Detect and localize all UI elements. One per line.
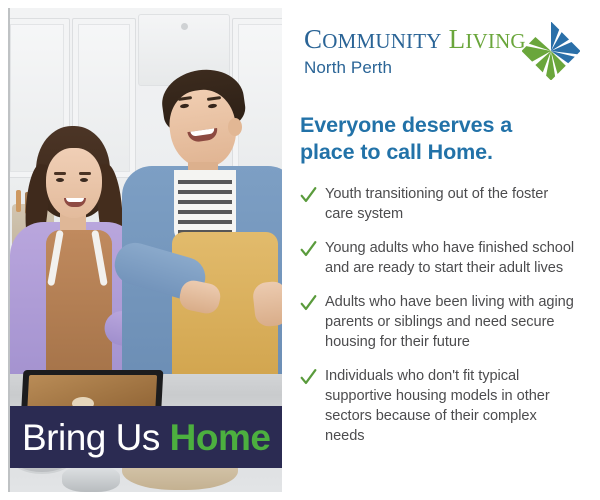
list-item: Individuals who don't fit typical suppor… bbox=[300, 367, 576, 447]
headline-line-1: Everyone deserves a bbox=[300, 112, 576, 139]
list-item: Youth transitioning out of the foster ca… bbox=[300, 185, 576, 225]
check-icon bbox=[300, 186, 317, 204]
logo-wordmark: COMMUNITY LIVING North Perth bbox=[304, 26, 526, 78]
photo-column: Bring Us Home bbox=[8, 8, 282, 492]
banner-text-green: Home bbox=[170, 417, 271, 458]
eligibility-list: Youth transitioning out of the foster ca… bbox=[300, 185, 576, 447]
eye-right bbox=[80, 178, 88, 182]
poster-root: Bring Us Home COMMUNITY LIVING North Per… bbox=[0, 0, 600, 500]
list-item-label: Young adults who have finished school an… bbox=[325, 239, 576, 279]
content-panel: COMMUNITY LIVING North Perth bbox=[286, 0, 600, 500]
bring-us-home-banner: Bring Us Home bbox=[10, 406, 282, 468]
person-young-man bbox=[128, 70, 282, 406]
logo-c: C bbox=[304, 24, 322, 54]
logo-living-rest: IVING bbox=[465, 29, 525, 53]
eyebrow-left bbox=[54, 172, 66, 175]
kitchen-photo: Bring Us Home bbox=[10, 8, 282, 492]
check-icon bbox=[300, 240, 317, 258]
community-living-logo[interactable]: COMMUNITY LIVING North Perth bbox=[300, 26, 576, 88]
cookie-cutter bbox=[62, 466, 120, 492]
logo-l: L bbox=[449, 24, 466, 54]
tee-stripes bbox=[178, 180, 232, 238]
logo-line-primary: COMMUNITY LIVING bbox=[304, 26, 526, 53]
ear bbox=[228, 118, 242, 136]
page-title: Everyone deserves a place to call Home. bbox=[300, 112, 576, 166]
logo-community-rest: OMMUNITY bbox=[322, 29, 441, 53]
list-item-label: Youth transitioning out of the foster ca… bbox=[325, 185, 576, 225]
diamond-rays-logo-mark bbox=[522, 22, 580, 80]
list-item: Young adults who have finished school an… bbox=[300, 239, 576, 279]
check-icon bbox=[300, 294, 317, 312]
headline-line-2: place to call Home. bbox=[300, 139, 576, 166]
banner-text-white: Bring Us bbox=[22, 417, 170, 458]
list-item: Adults who have been living with aging p… bbox=[300, 293, 576, 353]
list-item-label: Adults who have been living with aging p… bbox=[325, 293, 576, 353]
logo-tagline: North Perth bbox=[304, 58, 526, 78]
smiling-mouth bbox=[64, 198, 86, 207]
eye-left bbox=[56, 178, 64, 182]
list-item-label: Individuals who don't fit typical suppor… bbox=[325, 367, 576, 447]
face bbox=[46, 148, 102, 218]
check-icon bbox=[300, 368, 317, 386]
eyebrow-right bbox=[79, 172, 91, 175]
